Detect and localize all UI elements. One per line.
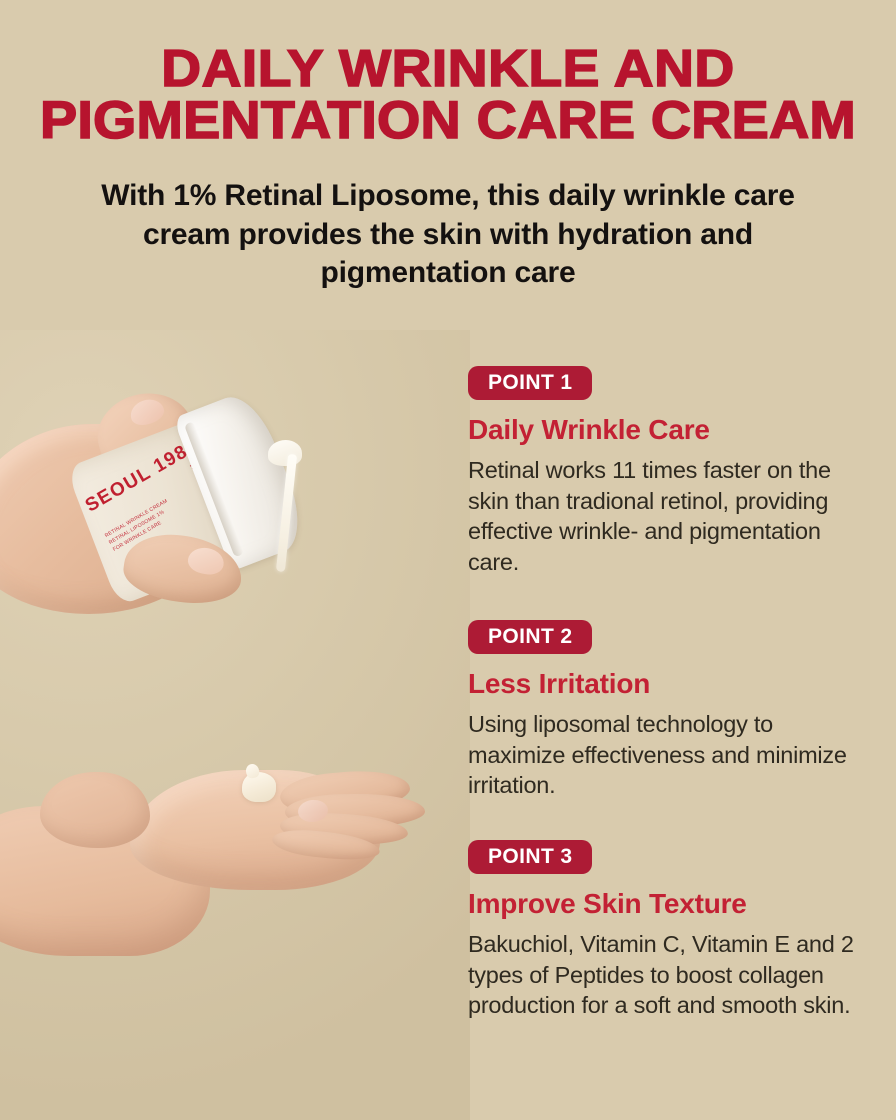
point-badge-3: POINT 3 xyxy=(468,840,592,874)
header: DAILY WRINKLE AND PIGMENTATION CARE CREA… xyxy=(0,0,896,293)
palm-knuckle xyxy=(40,772,150,848)
point-heading-1: Daily Wrinkle Care xyxy=(468,415,868,446)
point-item-3: POINT 3 Improve Skin Texture Bakuchiol, … xyxy=(468,840,868,1021)
promo-page: DAILY WRINKLE AND PIGMENTATION CARE CREA… xyxy=(0,0,896,1120)
point-item-2: POINT 2 Less Irritation Using liposomal … xyxy=(468,620,868,801)
page-subtitle-line-2: cream provides the skin with hydration a… xyxy=(70,216,826,254)
point-badge-1: POINT 1 xyxy=(468,366,592,400)
open-palm-photo xyxy=(0,728,450,978)
point-heading-3: Improve Skin Texture xyxy=(468,889,868,920)
page-title: DAILY WRINKLE AND PIGMENTATION CARE CREA… xyxy=(0,44,896,147)
product-photo-collage: SEOUL 1988 RETINAL WRINKLE CREAM RETINAL… xyxy=(0,330,470,1120)
point-body-2: Using liposomal technology to maximize e… xyxy=(468,709,868,801)
page-title-line-2: PIGMENTATION CARE CREAM xyxy=(0,95,896,147)
page-subtitle-line-1: With 1% Retinal Liposome, this daily wri… xyxy=(70,177,826,215)
page-subtitle: With 1% Retinal Liposome, this daily wri… xyxy=(0,177,896,292)
point-body-1: Retinal works 11 times faster on the ski… xyxy=(468,455,868,578)
hand-holding-jar-photo: SEOUL 1988 RETINAL WRINKLE CREAM RETINAL… xyxy=(38,388,368,638)
point-body-3: Bakuchiol, Vitamin C, Vitamin E and 2 ty… xyxy=(468,929,868,1021)
point-heading-2: Less Irritation xyxy=(468,669,868,700)
page-title-line-1: DAILY WRINKLE AND xyxy=(0,44,896,95)
point-item-1: POINT 1 Daily Wrinkle Care Retinal works… xyxy=(468,366,868,578)
page-subtitle-line-3: pigmentation care xyxy=(70,254,826,292)
cream-dollop xyxy=(242,772,276,802)
points-list: POINT 1 Daily Wrinkle Care Retinal works… xyxy=(468,366,868,1039)
cream-pour-blob xyxy=(268,440,302,466)
point-badge-2: POINT 2 xyxy=(468,620,592,654)
